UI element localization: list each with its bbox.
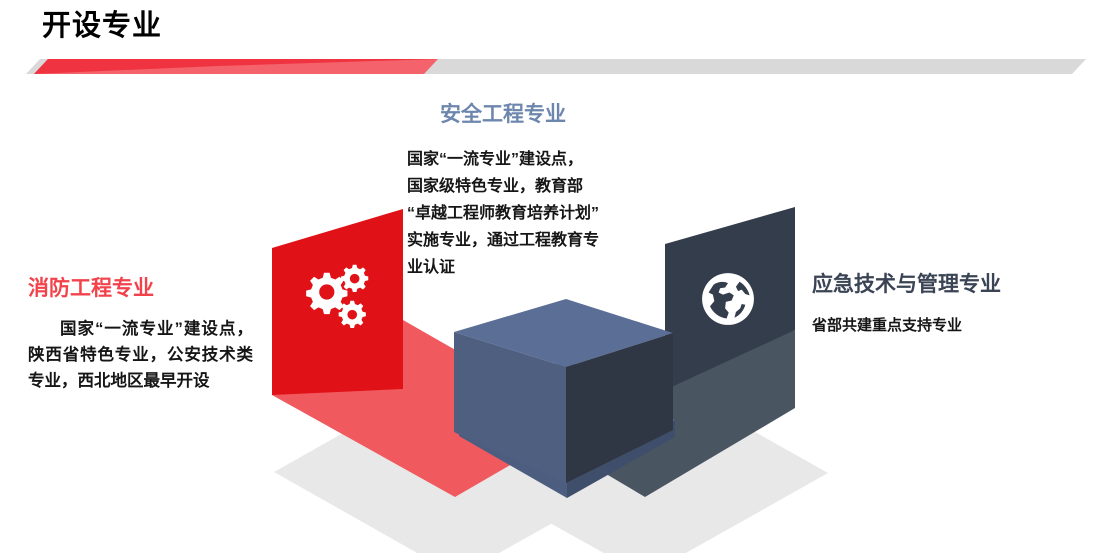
body-emergency: 省部共建重点支持专业: [812, 314, 1082, 338]
slide-root: 开设专业: [0, 0, 1104, 553]
heading-emergency: 应急技术与管理专业: [812, 268, 1082, 298]
page-title: 开设专业: [42, 9, 162, 44]
heading-fire-protection: 消防工程专业: [28, 272, 253, 302]
body-fire-protection: 国家“一流专业”建设点，陕西省特色专业，公安技术类专业，西北地区最早开设: [28, 316, 253, 394]
text-block-safety-engineering: 安全工程专业 国家“一流专业”建设点， 国家级特色专业，教育部 “卓越工程师教育…: [407, 98, 677, 281]
globe-icon: [702, 273, 754, 325]
body-line: 国家级特色专业，教育部: [407, 173, 677, 200]
text-block-emergency: 应急技术与管理专业 省部共建重点支持专业: [812, 268, 1082, 338]
heading-safety-engineering: 安全工程专业: [440, 98, 677, 128]
body-line: 国家“一流专业”建设点，: [407, 146, 677, 173]
title-divider-bar: [18, 56, 1086, 78]
text-block-fire-protection: 消防工程专业 国家“一流专业”建设点，陕西省特色专业，公安技术类专业，西北地区最…: [28, 272, 253, 394]
body-safety-engineering: 国家“一流专业”建设点， 国家级特色专业，教育部 “卓越工程师教育培养计划” 实…: [407, 146, 677, 281]
body-line: “卓越工程师教育培养计划”: [407, 200, 677, 227]
body-line: 实施专业，通过工程教育专: [407, 227, 677, 254]
body-line: 业认证: [407, 254, 677, 281]
